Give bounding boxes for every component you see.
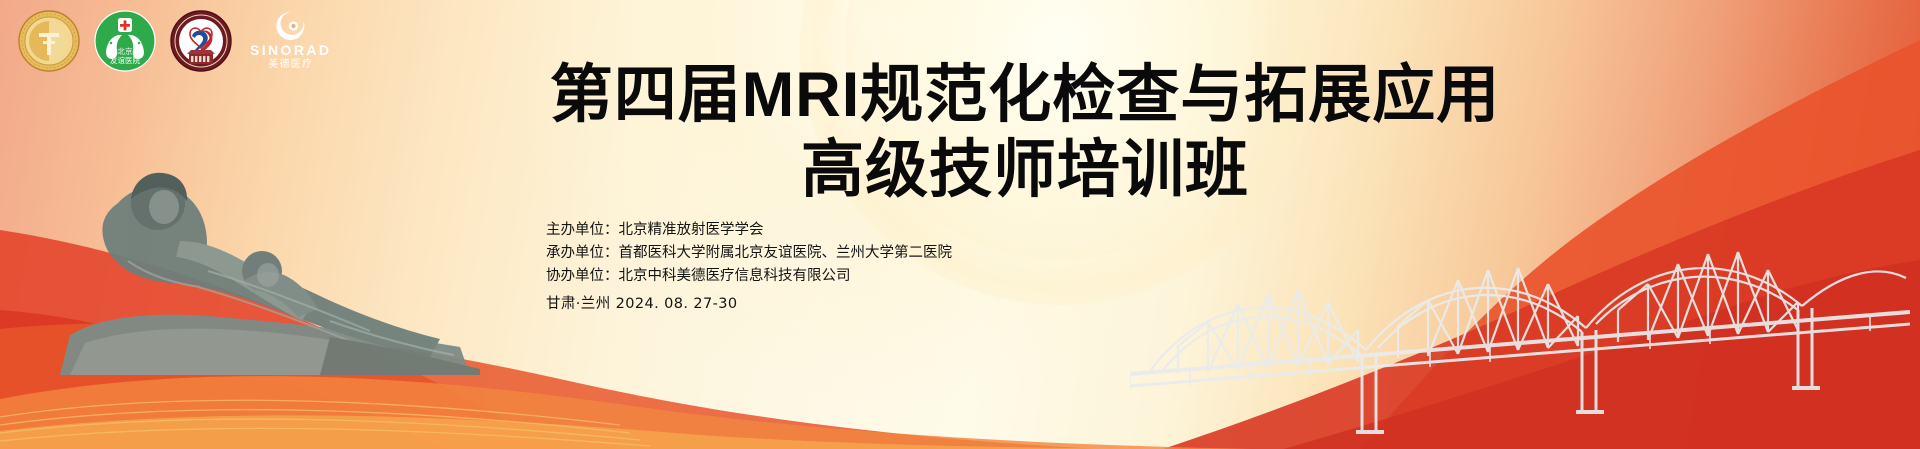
logo-text-beijing: 北京 xyxy=(118,46,133,56)
credit-organizer: 主办单位：北京精准放射医学学会 xyxy=(546,219,952,242)
conference-banner: 北京 友谊医院 xyxy=(0,0,1920,449)
banner-headline: 第四届MRI规范化检查与拓展应用 高级技师培训班 xyxy=(0,62,1920,204)
sinorad-wordmark: SINORAD xyxy=(250,43,331,57)
logo-row: 北京 友谊医院 xyxy=(18,8,331,74)
logo-text-friendship-hospital: 友谊医院 xyxy=(110,55,140,65)
sinorad-mark-icon xyxy=(276,11,306,41)
credit-venue-date: 甘肃·兰州 2024. 08. 27-30 xyxy=(546,293,952,316)
credits-block: 主办单位：北京精准放射医学学会 承办单位：首都医科大学附属北京友谊医院、兰州大学… xyxy=(546,219,952,316)
gold-emblem-logo xyxy=(18,10,80,72)
page-title-line-2: 高级技师培训班 xyxy=(0,137,1920,204)
sinorad-logo: SINORAD 美德医疗 xyxy=(250,11,331,72)
lanzhou-university-second-hospital-logo xyxy=(170,10,232,72)
credit-co-organizer: 协办单位：北京中科美德医疗信息科技有限公司 xyxy=(546,265,952,288)
sinorad-chinese-name: 美德医疗 xyxy=(268,59,313,72)
beijing-friendship-hospital-logo: 北京 友谊医院 xyxy=(94,10,156,72)
credit-host: 承办单位：首都医科大学附属北京友谊医院、兰州大学第二医院 xyxy=(546,242,952,265)
